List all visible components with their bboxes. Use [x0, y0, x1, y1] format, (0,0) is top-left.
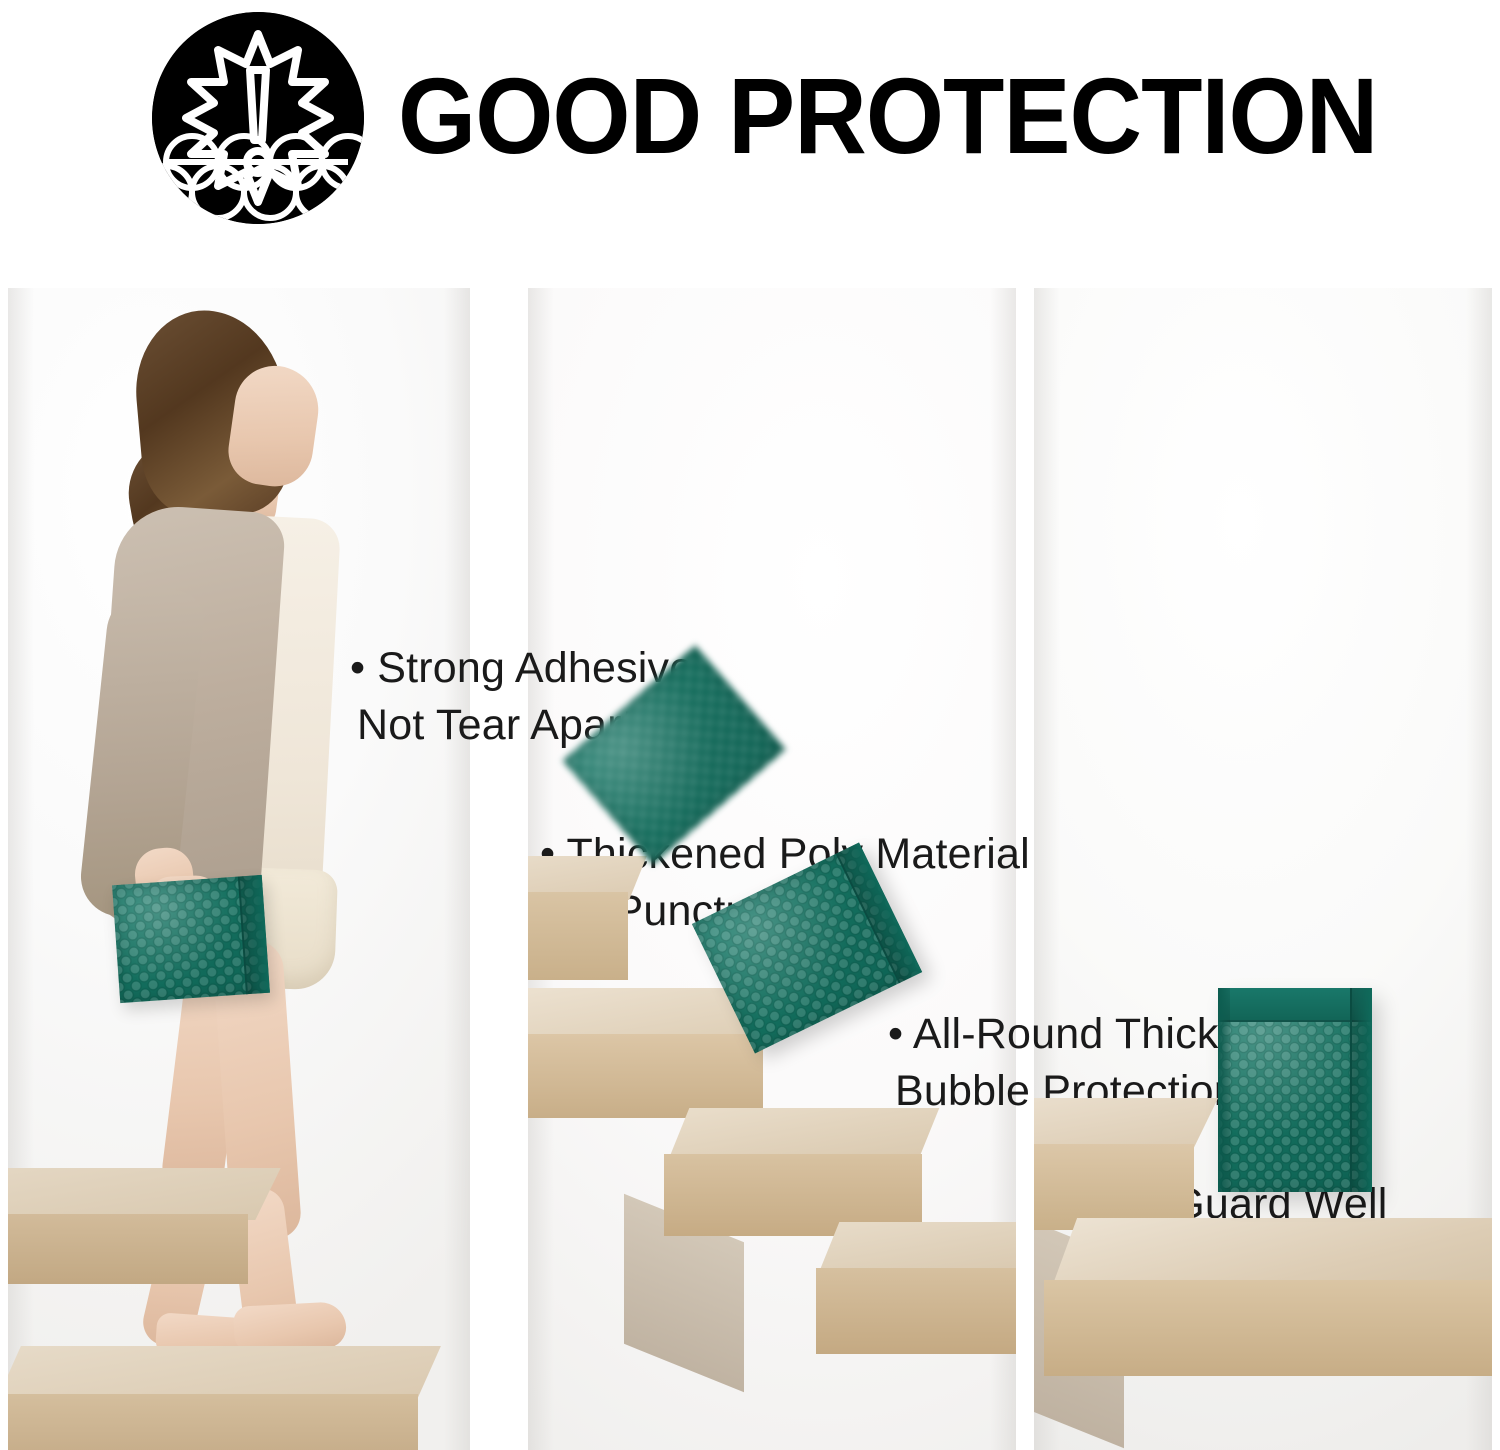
bullet-dot: •: [350, 644, 365, 692]
bullet-dot: •: [888, 1010, 903, 1058]
header: GOOD PROTECTION: [0, 0, 1500, 282]
feature-line-primary: • Strong Adhesive: [350, 640, 693, 697]
stair-tread-upper-top: [8, 1168, 281, 1220]
panel-mailer-intact-on-stairs: [1034, 288, 1492, 1450]
page-title: GOOD PROTECTION: [398, 57, 1384, 177]
product-feature-infographic: GOOD PROTECTION: [0, 0, 1500, 1450]
badge-icon-graphic: [152, 12, 364, 224]
bubble-mailer-intact: [1218, 988, 1372, 1192]
stair-tread-4-face: [816, 1268, 1016, 1354]
stair-tread-upper-face: [8, 1214, 248, 1284]
stair-tread-lower-face: [8, 1394, 418, 1450]
mailer-seal-edge-right: [1350, 988, 1372, 1192]
feature-text: Strong Adhesive: [377, 644, 693, 692]
impact-bubble-wrap-badge-icon: [152, 12, 364, 224]
photo-strip: • Strong Adhesive Not Tear Apart • Thick…: [0, 288, 1500, 1450]
stair-tread-main-face: [1044, 1280, 1492, 1376]
stair-tread-1-face: [528, 892, 628, 980]
stair-tread-2-face: [528, 1034, 763, 1118]
panel-woman-carrying-mailer: [8, 288, 470, 1450]
mailer-top-flap: [1218, 988, 1372, 1022]
bubble-mailer: [112, 875, 270, 1003]
mailer-seal-edge-left: [1218, 988, 1230, 1192]
